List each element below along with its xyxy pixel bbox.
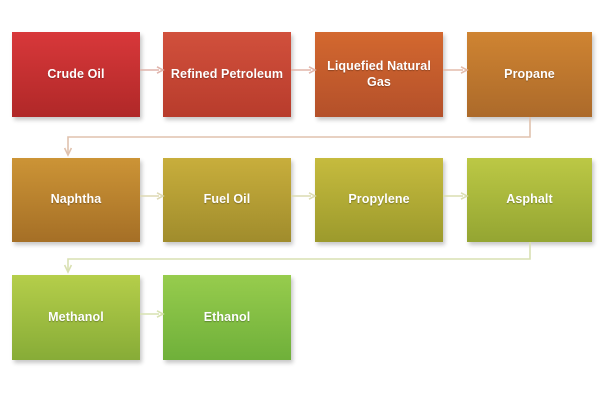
node-liquefied-natural-gas[interactable]: Liquefied Natural Gas	[315, 32, 443, 117]
arrow-methanol-to-ethanol	[140, 308, 163, 320]
node-label: Crude Oil	[47, 67, 104, 83]
arrow-fuel-oil-to-propylene	[291, 190, 315, 202]
node-refined-petroleum[interactable]: Refined Petroleum	[163, 32, 291, 117]
node-label: Naphtha	[51, 192, 102, 208]
arrow-refined-petroleum-to-lng	[291, 64, 315, 76]
node-fuel-oil[interactable]: Fuel Oil	[163, 158, 291, 242]
node-label: Propylene	[348, 192, 409, 208]
node-label: Refined Petroleum	[171, 67, 283, 83]
arrow-naphtha-to-fuel-oil	[140, 190, 163, 202]
node-ethanol[interactable]: Ethanol	[163, 275, 291, 360]
node-propane[interactable]: Propane	[467, 32, 592, 117]
node-label: Fuel Oil	[204, 192, 251, 208]
node-crude-oil[interactable]: Crude Oil	[12, 32, 140, 117]
node-asphalt[interactable]: Asphalt	[467, 158, 592, 242]
arrow-propylene-to-asphalt	[443, 190, 467, 202]
flowchart-canvas: Crude Oil Refined Petroleum Liquefied Na…	[0, 0, 600, 400]
node-label: Methanol	[48, 310, 104, 326]
connector-asphalt-to-methanol	[62, 240, 536, 279]
node-label: Ethanol	[204, 310, 251, 326]
node-naphtha[interactable]: Naphtha	[12, 158, 140, 242]
node-propylene[interactable]: Propylene	[315, 158, 443, 242]
connector-propane-to-naphtha	[62, 115, 536, 162]
node-label: Propane	[504, 67, 555, 83]
node-methanol[interactable]: Methanol	[12, 275, 140, 360]
arrow-lng-to-propane	[443, 64, 467, 76]
node-label: Asphalt	[506, 192, 553, 208]
arrow-crude-oil-to-refined-petroleum	[140, 64, 163, 76]
node-label: Liquefied Natural Gas	[319, 59, 439, 90]
